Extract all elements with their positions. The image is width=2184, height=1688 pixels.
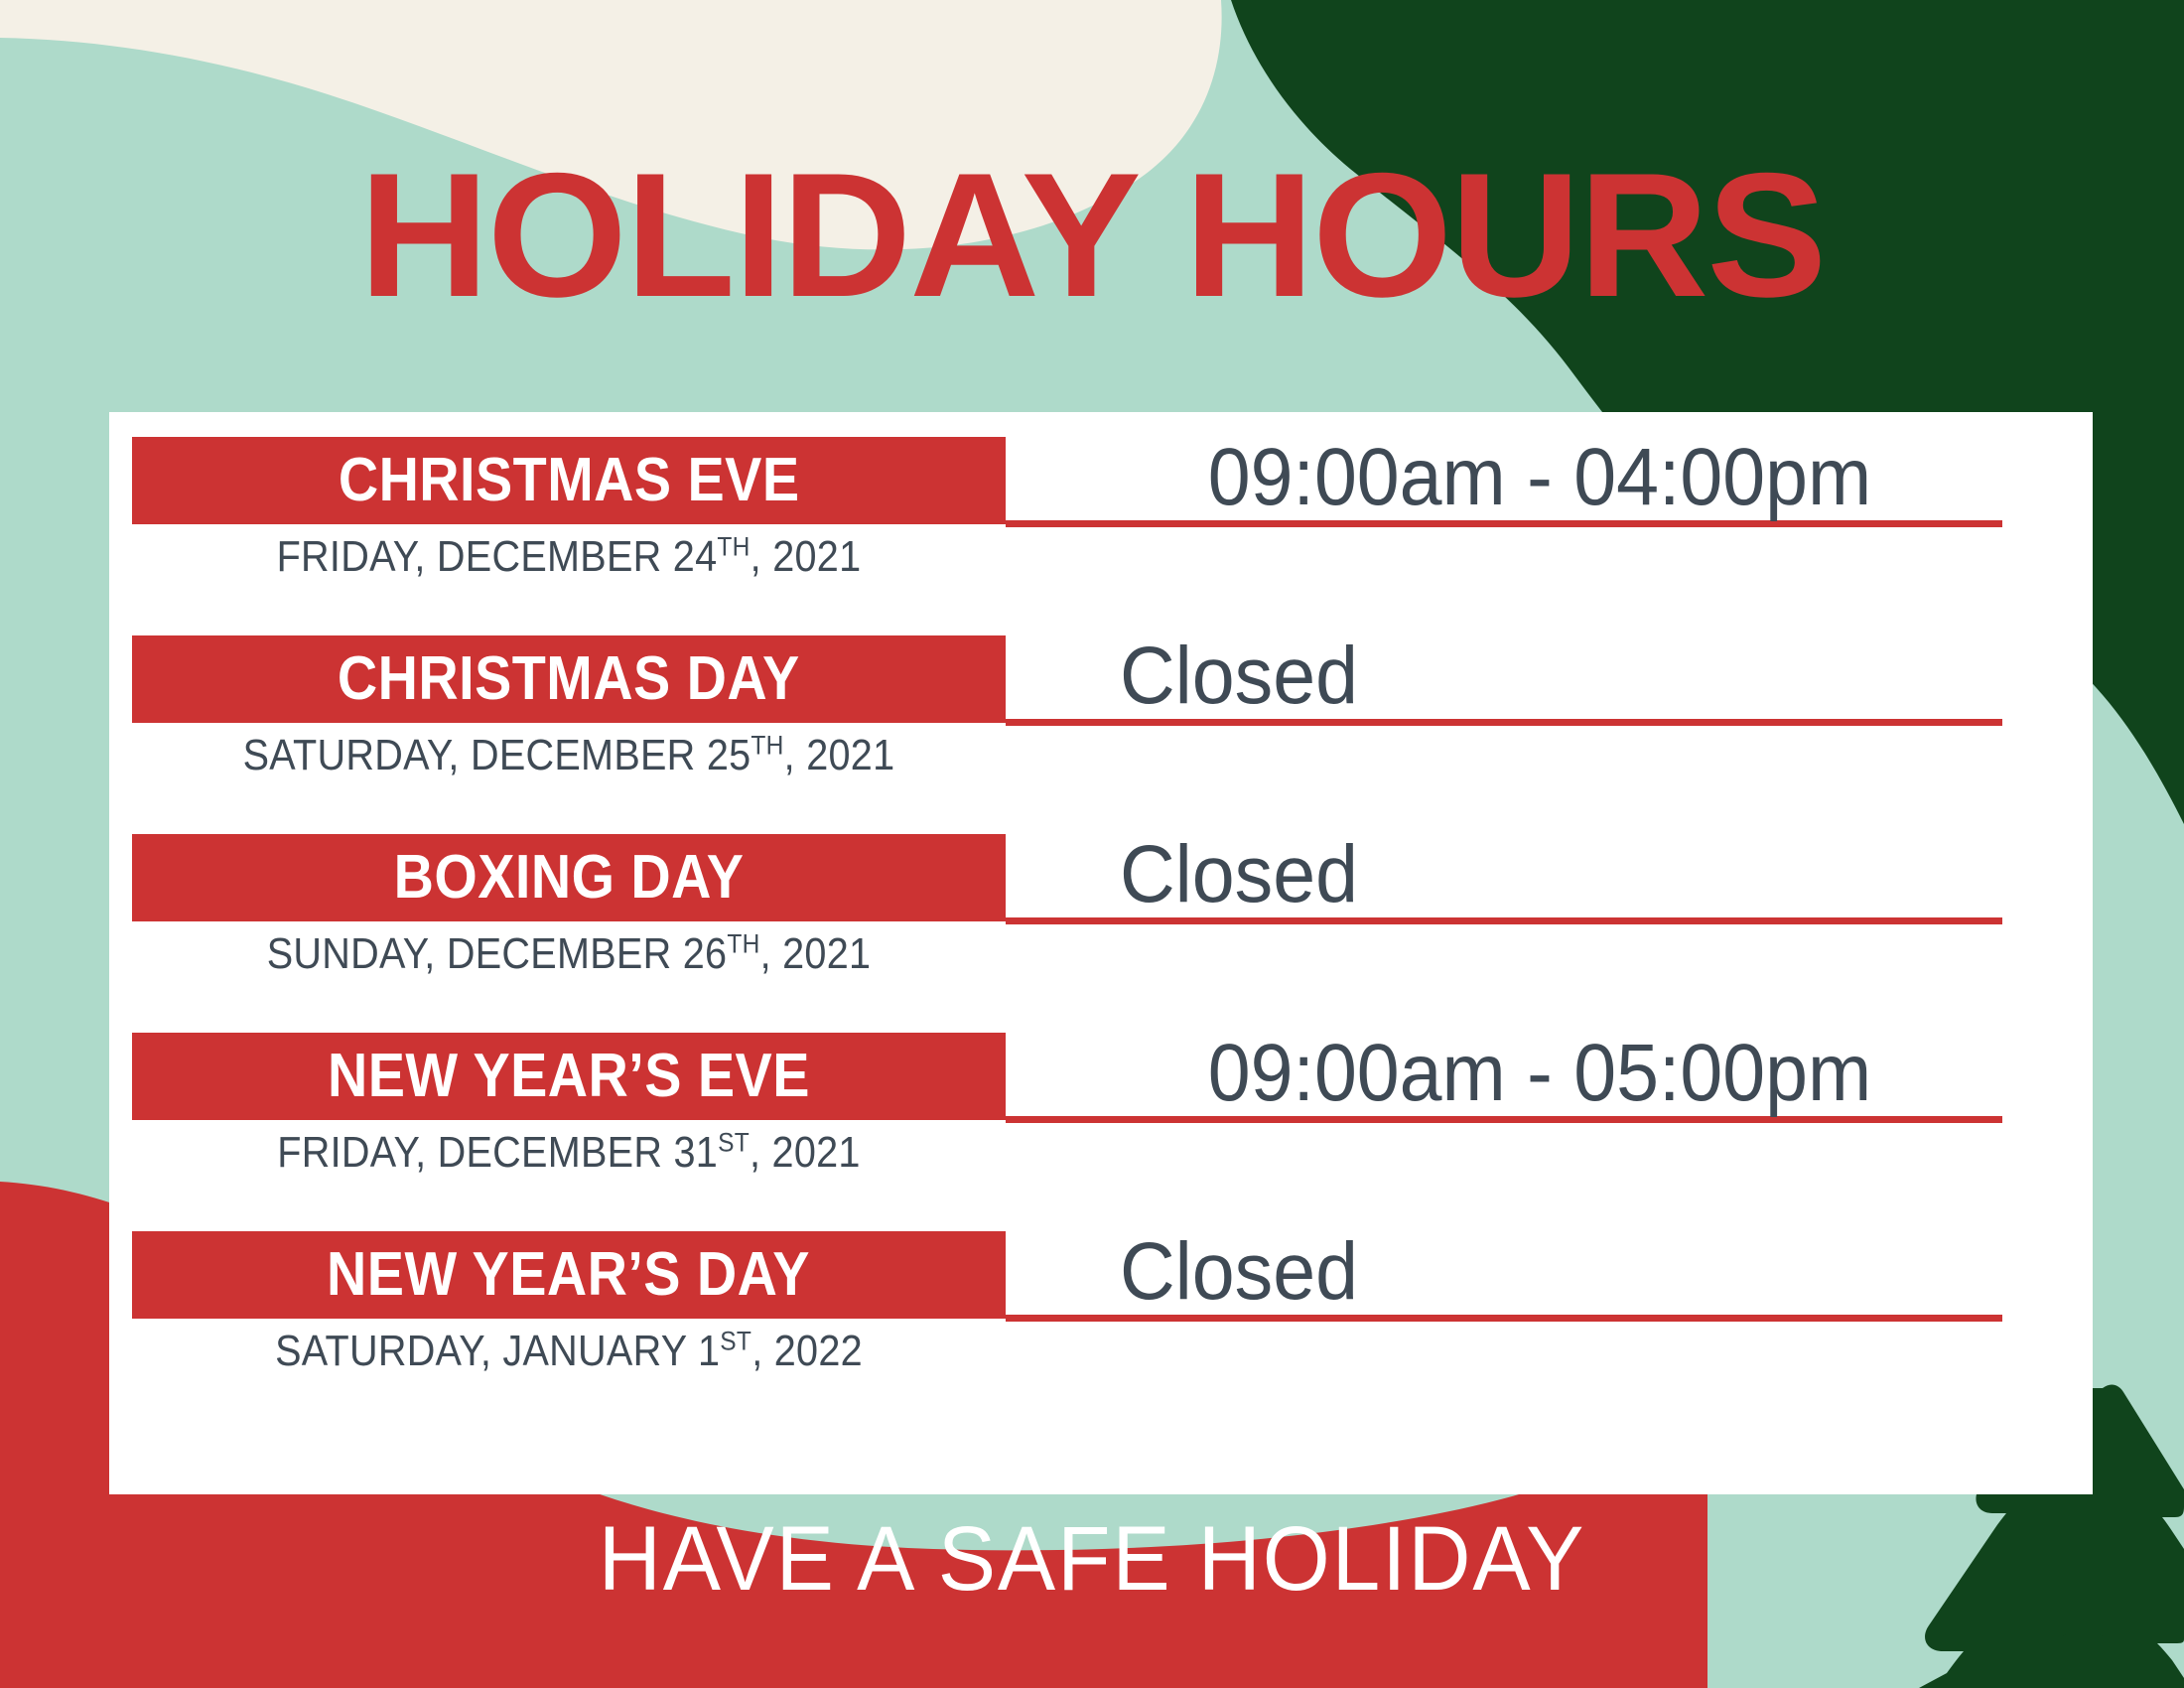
holiday-date-prefix: FRIDAY, DECEMBER 24 — [277, 532, 718, 581]
holiday-date-ordinal: TH — [751, 729, 783, 760]
holiday-date-prefix: SATURDAY, DECEMBER 25 — [243, 731, 751, 779]
holiday-hours-value: Closed — [1120, 1213, 1960, 1313]
page-title: HOLIDAY HOURS — [0, 147, 2184, 324]
schedule-row: BOXING DAY SUNDAY, DECEMBER 26TH, 2021 C… — [109, 834, 2093, 1038]
schedule-row: NEW YEAR’S DAY SATURDAY, JANUARY 1ST, 20… — [109, 1231, 2093, 1435]
holiday-date-ordinal: ST — [718, 1126, 750, 1157]
holiday-name-chip: CHRISTMAS DAY — [132, 635, 1006, 723]
schedule-row: NEW YEAR’S EVE FRIDAY, DECEMBER 31ST, 20… — [109, 1033, 2093, 1236]
holiday-date-suffix: , 2022 — [751, 1327, 863, 1375]
holiday-date-prefix: SATURDAY, JANUARY 1 — [275, 1327, 720, 1375]
holiday-date-suffix: , 2021 — [750, 1128, 861, 1177]
holiday-name-label: NEW YEAR’S DAY — [328, 1244, 811, 1306]
holiday-date-prefix: SUNDAY, DECEMBER 26 — [267, 929, 728, 978]
holiday-date-ordinal: TH — [727, 927, 759, 958]
footer-message: HAVE A SAFE HOLIDAY — [55, 1513, 2129, 1605]
holiday-name-label: NEW YEAR’S EVE — [328, 1046, 810, 1107]
holiday-name-chip: NEW YEAR’S EVE — [132, 1033, 1006, 1120]
holiday-date-prefix: FRIDAY, DECEMBER 31 — [277, 1128, 718, 1177]
holiday-hours-value: Closed — [1120, 816, 1960, 915]
schedule-row: CHRISTMAS EVE FRIDAY, DECEMBER 24TH, 202… — [109, 437, 2093, 640]
holiday-name-label: CHRISTMAS DAY — [338, 648, 800, 710]
holiday-date: SATURDAY, JANUARY 1ST, 2022 — [176, 1327, 962, 1377]
holiday-date: FRIDAY, DECEMBER 24TH, 2021 — [176, 532, 962, 583]
holiday-name-chip: CHRISTMAS EVE — [132, 437, 1006, 524]
holiday-date-suffix: , 2021 — [784, 731, 895, 779]
schedule-row: CHRISTMAS DAY SATURDAY, DECEMBER 25TH, 2… — [109, 635, 2093, 839]
holiday-date: SUNDAY, DECEMBER 26TH, 2021 — [176, 929, 962, 980]
holiday-name-chip: NEW YEAR’S DAY — [132, 1231, 1006, 1319]
holiday-date-suffix: , 2021 — [760, 929, 872, 978]
schedule-card: CHRISTMAS EVE FRIDAY, DECEMBER 24TH, 202… — [109, 412, 2093, 1494]
holiday-date-ordinal: TH — [717, 530, 750, 561]
holiday-hours-poster: HOLIDAY HOURS CHRISTMAS EVE FRIDAY, DECE… — [0, 0, 2184, 1688]
holiday-hours-value: 09:00am - 05:00pm — [1120, 1015, 1960, 1114]
holiday-date: FRIDAY, DECEMBER 31ST, 2021 — [176, 1128, 962, 1179]
holiday-name-label: BOXING DAY — [394, 847, 745, 909]
holiday-hours-value: 09:00am - 04:00pm — [1120, 419, 1960, 518]
holiday-hours-value: Closed — [1120, 618, 1960, 717]
holiday-date-ordinal: ST — [720, 1325, 751, 1355]
holiday-date: SATURDAY, DECEMBER 25TH, 2021 — [176, 731, 962, 781]
holiday-name-chip: BOXING DAY — [132, 834, 1006, 921]
holiday-date-suffix: , 2021 — [751, 532, 862, 581]
holiday-name-label: CHRISTMAS EVE — [339, 450, 800, 511]
